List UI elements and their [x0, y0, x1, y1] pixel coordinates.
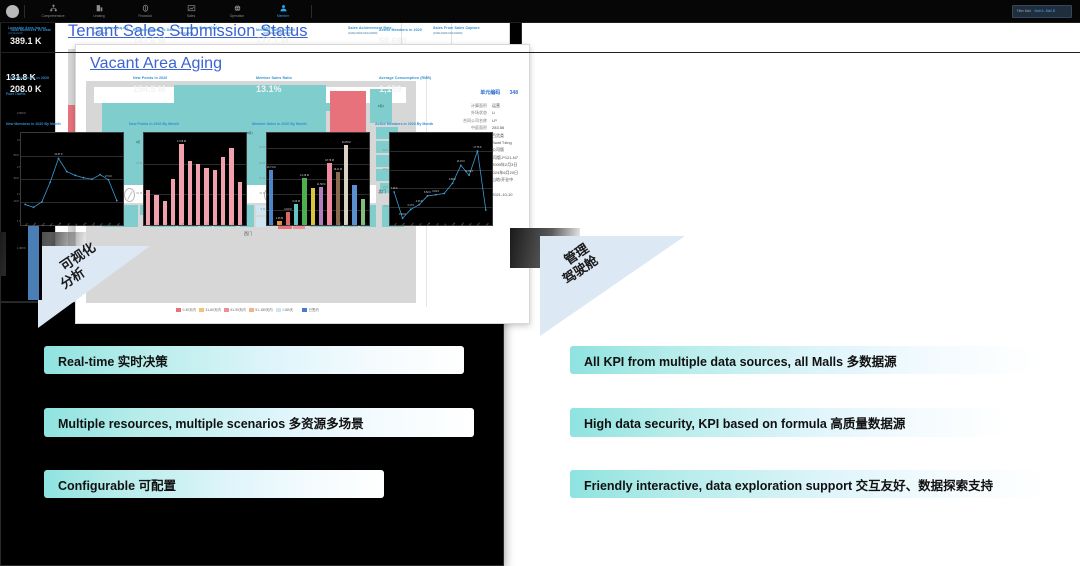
- nav-item-leasing[interactable]: Leasing: [76, 4, 122, 18]
- data-label: 17.75 K: [473, 146, 481, 149]
- axis-tick: 15 M: [130, 162, 142, 165]
- data-label: 11.59 M: [317, 183, 325, 186]
- feature-bar-right-2: High data security, KPI based on formula…: [570, 408, 1010, 437]
- presentation-slide: Tenant Sales Submission Status Vacant Ar…: [0, 0, 1080, 537]
- bar[interactable]: [319, 187, 324, 225]
- bar[interactable]: [311, 188, 316, 225]
- data-label: 17.08 M: [177, 140, 186, 143]
- axis-category-label: Dec: [240, 223, 244, 228]
- gridline: [267, 148, 369, 149]
- kpi-card[interactable]: Average Consumption (RMB) 1,159: [375, 76, 498, 124]
- axis-category-label: Sep: [461, 223, 465, 228]
- kpi-value: 154.5 M: [133, 84, 252, 94]
- chart-title: Active Members in 2020 By Month: [375, 122, 493, 126]
- chart-panel[interactable]: Member Sales in 2020 By Month25 M20 M15 …: [252, 122, 370, 258]
- data-label: 16.71 M: [267, 166, 276, 169]
- axis-category-label: Mar: [165, 223, 169, 227]
- kpi-card[interactable]: Total Members To Date 389.1 K: [6, 28, 129, 76]
- axis-tick: 5 M: [253, 208, 265, 211]
- kpi-label: Balance Points To Date: [133, 28, 252, 32]
- feature-bar-left-2: Multiple resources, multiple scenarios 多…: [44, 408, 474, 437]
- trend-icon: [187, 4, 196, 13]
- kpi-label: Average Consumption (RMB): [379, 76, 498, 80]
- bar[interactable]: [302, 178, 307, 225]
- dashboard-nav-front[interactable]: ComprehensiveLeasingFinancialSalesOperat…: [0, 0, 1080, 23]
- legend-item: 61-90天内: [224, 307, 246, 312]
- kpi-card[interactable]: Member Sales in 2020 127.1 M: [252, 28, 375, 76]
- legend-label: >180天: [282, 307, 293, 312]
- bar[interactable]: [171, 179, 176, 225]
- bar[interactable]: [269, 170, 274, 225]
- axis-tick: 50 K: [7, 154, 19, 157]
- bar[interactable]: [196, 164, 201, 225]
- data-label: 1.26 M: [276, 217, 283, 220]
- kpi-label: Member Sales in 2020: [256, 28, 375, 32]
- bar[interactable]: [361, 199, 366, 225]
- bar[interactable]: [213, 170, 218, 225]
- data-label: 9.68 K: [449, 178, 456, 181]
- nav-item-label: Leasing: [93, 14, 105, 18]
- data-label: 24.25 M: [342, 141, 351, 144]
- bar[interactable]: [229, 148, 234, 225]
- feature-bar-left-1: Real-time 实时决策: [44, 346, 464, 374]
- axis-category-label: Jun: [67, 223, 71, 227]
- data-label: 3.17 K: [407, 204, 414, 207]
- axis-category-label: Sep: [92, 223, 96, 228]
- bar[interactable]: [154, 195, 159, 225]
- data-label: 7.49 K: [391, 187, 398, 190]
- bar[interactable]: [238, 182, 243, 225]
- axis-category-label: Mar: [411, 223, 415, 227]
- floor-plan-legend: 0.30天内 31-60天内 61-90天内 91-180天内 >180天 已签…: [176, 307, 319, 312]
- chart-plot-area[interactable]: 25 M20 M15 M10 M5 M16.71 M1.26 M4.04 M6.…: [266, 132, 370, 226]
- chart-panel[interactable]: New Points in 2020 By Month15 M10 M17.08…: [129, 122, 247, 258]
- app-logo-icon: [6, 5, 19, 18]
- kpi-card[interactable]: Balance Points To Date 143.6 M: [129, 28, 252, 76]
- axis-tick: 10 M: [253, 192, 265, 195]
- kpi-label: New Points in 2020: [133, 76, 252, 80]
- kpi-value: 13.1%: [256, 84, 375, 94]
- axis-category-label: Dec: [486, 223, 490, 228]
- axis-category-label: Jul: [444, 224, 447, 228]
- data-label: 27.6 K: [105, 175, 112, 178]
- kpi-value: 58,680: [379, 36, 498, 46]
- nav-item-operation[interactable]: Operation: [214, 4, 260, 18]
- bar[interactable]: [221, 157, 226, 225]
- data-label: 0.93 K: [399, 213, 406, 216]
- legend-item: 31-60天内: [199, 307, 221, 312]
- axis-tick: 20 K: [376, 149, 388, 152]
- axis-category-label: Jul: [198, 224, 201, 228]
- kpi-label: Total Members To Date: [10, 28, 129, 32]
- filter-value: Mall A, Mall B: [1034, 9, 1069, 13]
- gridline: [267, 179, 369, 180]
- chart-panel[interactable]: Active Members in 2020 By Month20 K15 K1…: [375, 122, 493, 258]
- kpi-card[interactable]: New Points in 2020 154.5 M: [129, 76, 252, 124]
- axis-category-label: Mar: [288, 223, 292, 227]
- chart-plot-area[interactable]: 50 K30 K10 K41.67 K27.6 K: [20, 132, 124, 226]
- nav-item-label: Financial: [138, 14, 151, 18]
- mall-filter[interactable]: Filter Mall: Mall A, Mall B: [1012, 5, 1072, 18]
- hierarchy-icon: [49, 4, 58, 13]
- data-label: 6.81 K: [432, 190, 439, 193]
- legend-label: 91-180天内: [255, 307, 272, 312]
- bar[interactable]: [352, 185, 357, 225]
- gridline: [267, 164, 369, 165]
- legend-label: 0.30天内: [183, 307, 196, 312]
- legend-item: 已签约: [302, 307, 319, 312]
- axis-category-label: Jun: [190, 223, 194, 227]
- axis-category-label: Mar: [42, 223, 46, 227]
- data-label: 16.11 M: [334, 168, 342, 171]
- kpi-value: 208.0 K: [10, 84, 129, 94]
- axis-category-label: Sep: [215, 223, 219, 228]
- line-series: [21, 133, 121, 225]
- kpi-card[interactable]: New Members in 2020 208.0 K: [6, 76, 129, 124]
- bar[interactable]: [204, 168, 209, 225]
- person-icon: [279, 4, 288, 13]
- chart-title: New Points in 2020 By Month: [129, 122, 247, 126]
- nav-item-sales[interactable]: Sales: [168, 4, 214, 18]
- legend-label: 61-90天内: [230, 307, 245, 312]
- bar[interactable]: [344, 145, 349, 225]
- bar[interactable]: [179, 144, 184, 225]
- nav-item-label: Member: [277, 14, 289, 18]
- kpi-value: 143.6 M: [133, 36, 252, 46]
- data-label: 6.52 K: [424, 191, 431, 194]
- axis-tick: 20 M: [253, 162, 265, 165]
- axis-tick: 30 K: [7, 177, 19, 180]
- chart-row: New Members in 2020 By Month50 K30 K10 K…: [6, 122, 498, 258]
- kpi-value: 389.1 K: [10, 36, 129, 46]
- chart-title: Member Sales in 2020 By Month: [252, 122, 370, 126]
- feature-bar-left-3: Configurable 可配置: [44, 470, 384, 498]
- feature-bar-right-1: All KPI from multiple data sources, all …: [570, 346, 1040, 374]
- kpi-label: Active Members in 2020: [379, 28, 498, 32]
- bar[interactable]: [146, 190, 151, 225]
- chart-title: New Members in 2020 By Month: [6, 122, 124, 126]
- data-label: 6.29 M: [293, 200, 300, 203]
- nav-item-label: Operation: [230, 14, 244, 18]
- right-ribbon: 管理 驾驶舱: [510, 226, 685, 336]
- legend-item: 91-180天内: [249, 307, 273, 312]
- chart-plot-area[interactable]: 15 M10 M17.08 M: [143, 132, 247, 226]
- kpi-value: 1,159: [379, 84, 498, 94]
- legend-item: 0.30天内: [176, 307, 196, 312]
- nav-item-member[interactable]: Member: [260, 4, 306, 18]
- data-label: 14.18 M: [300, 174, 309, 177]
- axis-category-label: Jul: [75, 224, 78, 228]
- data-label: 4.33 K: [416, 200, 423, 203]
- data-label: 14.15 K: [457, 160, 465, 163]
- nav-item-label: Comprehensive: [41, 14, 64, 18]
- chart-panel[interactable]: New Members in 2020 By Month50 K30 K10 K…: [6, 122, 124, 258]
- filter-label: Filter Mall:: [1017, 9, 1032, 13]
- data-label: 18.79 M: [325, 159, 334, 162]
- axis-category-label: Sep: [338, 223, 342, 228]
- nav-item-label: Sales: [187, 14, 195, 18]
- kpi-value: 127.1 M: [256, 36, 375, 46]
- axis-category-label: Jun: [436, 223, 440, 227]
- axis-tick: 10 K: [7, 200, 19, 203]
- bar[interactable]: [336, 172, 341, 225]
- feature-bar-right-3: Friendly interactive, data exploration s…: [570, 470, 1050, 498]
- legend-item: >180天: [276, 307, 294, 312]
- kpi-label: New Members in 2020: [10, 76, 129, 80]
- data-label: 11.69 K: [465, 170, 473, 173]
- axis-category-label: Jun: [313, 223, 317, 227]
- axis-tick: 10 K: [376, 186, 388, 189]
- chart-plot-area[interactable]: 20 K15 K10 K5 K7.49 K0.93 K3.17 K4.33 K6…: [389, 132, 493, 226]
- bar[interactable]: [327, 163, 332, 225]
- axis-category-label: Dec: [117, 223, 121, 228]
- data-label: 4.04 M: [284, 208, 291, 211]
- globe-icon: [233, 4, 242, 13]
- unit-code-value: 348: [510, 90, 518, 96]
- kpi-card[interactable]: Active Members in 2020 58,680: [375, 28, 498, 76]
- legend-label: 31-60天内: [205, 307, 220, 312]
- kpi-card[interactable]: Member Sales Ratio 13.1%: [252, 76, 375, 124]
- nav-item-financial[interactable]: Financial: [122, 4, 168, 18]
- axis-tick: 10 M: [130, 192, 142, 195]
- legend-label: 已签约: [309, 307, 319, 312]
- axis-tick: 5 K: [376, 205, 388, 208]
- axis-category-label: Dec: [363, 223, 367, 228]
- axis-tick: 15 M: [253, 177, 265, 180]
- bar[interactable]: [188, 161, 193, 226]
- building-icon: [95, 4, 104, 13]
- kpi-grid-front: Total Members To Date 389.1 K Balance Po…: [6, 28, 498, 124]
- axis-category-label: Jul: [321, 224, 324, 228]
- axis-tick: 25 M: [253, 146, 265, 149]
- nav-item-comprehensive[interactable]: Comprehensive: [30, 4, 76, 18]
- axis-tick: 15 K: [376, 168, 388, 171]
- data-label: 41.67 K: [54, 153, 62, 156]
- coin-icon: [141, 4, 150, 13]
- kpi-label: Member Sales Ratio: [256, 76, 375, 80]
